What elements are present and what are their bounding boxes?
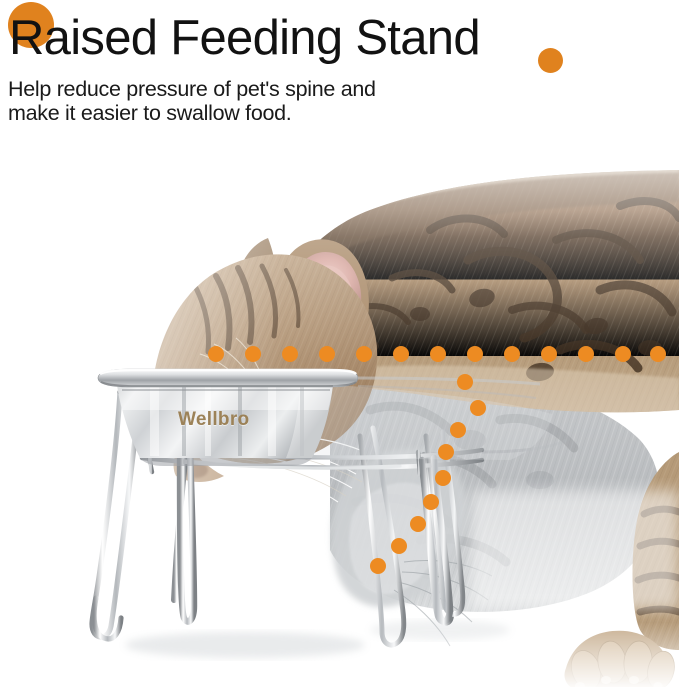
- subtitle-line-1: Help reduce pressure of pet's spine and: [8, 77, 376, 101]
- page-subtitle: Help reduce pressure of pet's spine and …: [8, 78, 376, 125]
- stand-leg-front-center: [180, 452, 194, 622]
- page-title: Raised Feeding Stand: [9, 10, 480, 66]
- brand-logo-engraving: Wellbro: [178, 409, 249, 431]
- subtitle-line-2: make it easier to swallow food.: [8, 102, 376, 125]
- headline-block: Raised Feeding Stand Help reduce pressur…: [0, 0, 679, 135]
- product-banner: Wellbro: [0, 0, 679, 687]
- orange-circle-small-icon: [538, 48, 563, 73]
